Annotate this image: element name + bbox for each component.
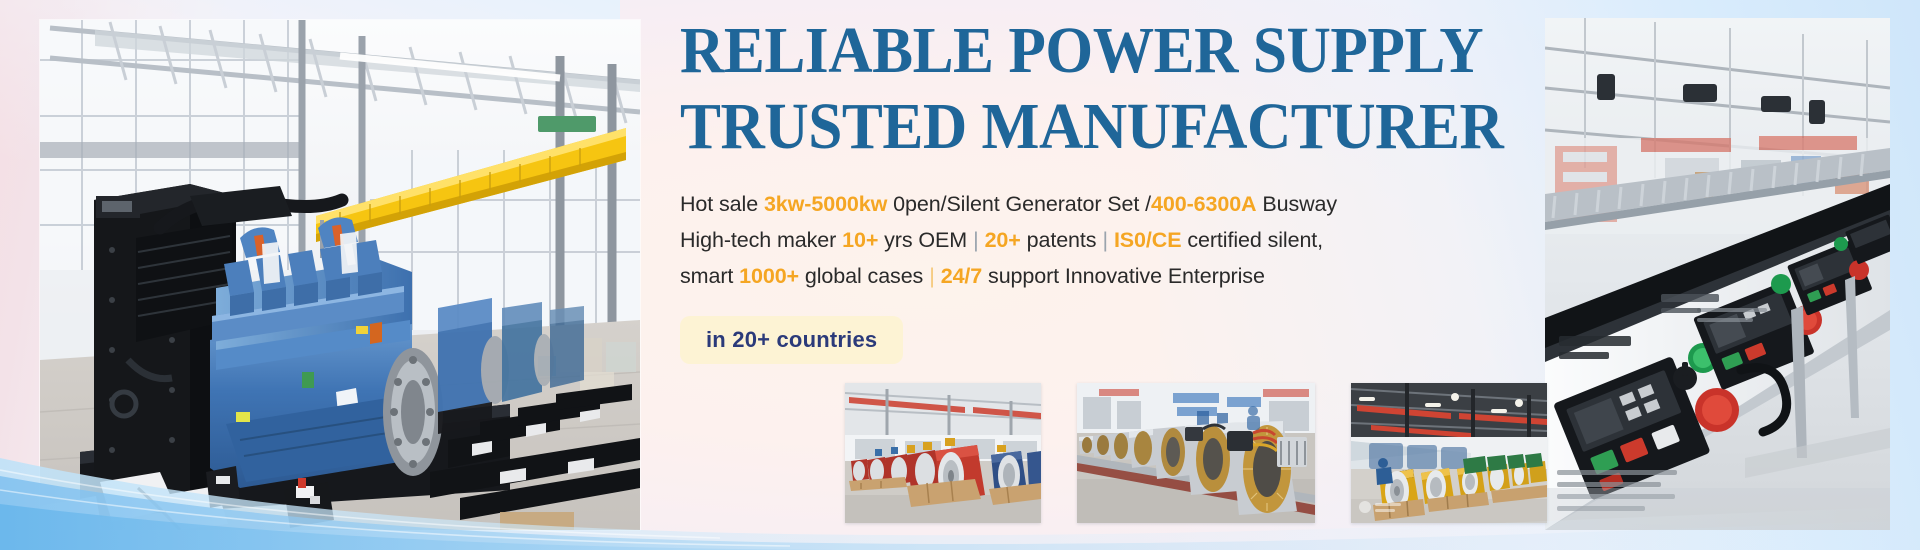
feature-3-text-1: smart xyxy=(680,264,739,288)
feature-2-text-1: High-tech maker xyxy=(680,228,842,252)
feature-2-highlight-patents: 20+ xyxy=(985,228,1021,252)
hero-photo-illustration xyxy=(40,20,640,530)
headline-line-1: RELIABLE POWER SUPPLY xyxy=(680,18,1480,84)
feature-2-text-2: yrs OEM xyxy=(878,228,967,252)
assembly-line-illustration xyxy=(1545,18,1890,530)
feature-line-3: smart 1000+ global cases|24/7 support In… xyxy=(680,258,1540,294)
copy-block: RELIABLE POWER SUPPLY TRUSTED MANUFACTUR… xyxy=(680,18,1540,364)
thumbnail-2-illustration xyxy=(1077,383,1315,523)
feature-line-1: Hot sale 3kw-5000kw 0pen/Silent Generato… xyxy=(680,186,1540,222)
hero-product-photo xyxy=(40,20,640,530)
feature-2-highlight-years: 10+ xyxy=(842,228,878,252)
feature-3-highlight-support: 24/7 xyxy=(941,264,982,288)
promo-banner: RELIABLE POWER SUPPLY TRUSTED MANUFACTUR… xyxy=(0,0,1920,550)
feature-1-highlight-power: 3kw-5000kw xyxy=(764,192,887,216)
feature-3-highlight-cases: 1000+ xyxy=(739,264,799,288)
thumbnail-3-gold-alternators[interactable] xyxy=(1351,383,1547,523)
feature-bullets: Hot sale 3kw-5000kw 0pen/Silent Generato… xyxy=(680,186,1540,294)
feature-line-2: High-tech maker 10+ yrs OEM|20+ patents|… xyxy=(680,222,1540,258)
feature-2-highlight-certification: IS0/CE xyxy=(1114,228,1182,252)
thumbnail-2-stator-assembly-line[interactable] xyxy=(1077,383,1315,523)
assembly-line-photo xyxy=(1545,18,1890,530)
feature-3-text-2: global cases xyxy=(799,264,923,288)
thumbnail-strip xyxy=(845,383,1547,523)
feature-2-separator-1: | xyxy=(967,228,985,252)
feature-1-text-1: Hot sale xyxy=(680,192,764,216)
feature-1-text-3: Busway xyxy=(1257,192,1338,216)
thumbnail-3-illustration xyxy=(1351,383,1547,523)
feature-2-separator-2: | xyxy=(1096,228,1114,252)
thumbnail-1-alternators-red-blue[interactable] xyxy=(845,383,1041,523)
feature-1-text-2: 0pen/Silent Generator Set / xyxy=(887,192,1151,216)
feature-3-text-3: support Innovative Enterprise xyxy=(982,264,1265,288)
feature-1-highlight-amps: 400-6300A xyxy=(1151,192,1257,216)
headline-line-2: TRUSTED MANUFACTURER xyxy=(680,94,1480,160)
countries-badge[interactable]: in 20+ countries xyxy=(680,316,903,364)
feature-2-text-3: patents xyxy=(1021,228,1097,252)
feature-2-text-4: certified silent, xyxy=(1181,228,1323,252)
feature-3-separator-1: | xyxy=(923,264,941,288)
thumbnail-1-illustration xyxy=(845,383,1041,523)
